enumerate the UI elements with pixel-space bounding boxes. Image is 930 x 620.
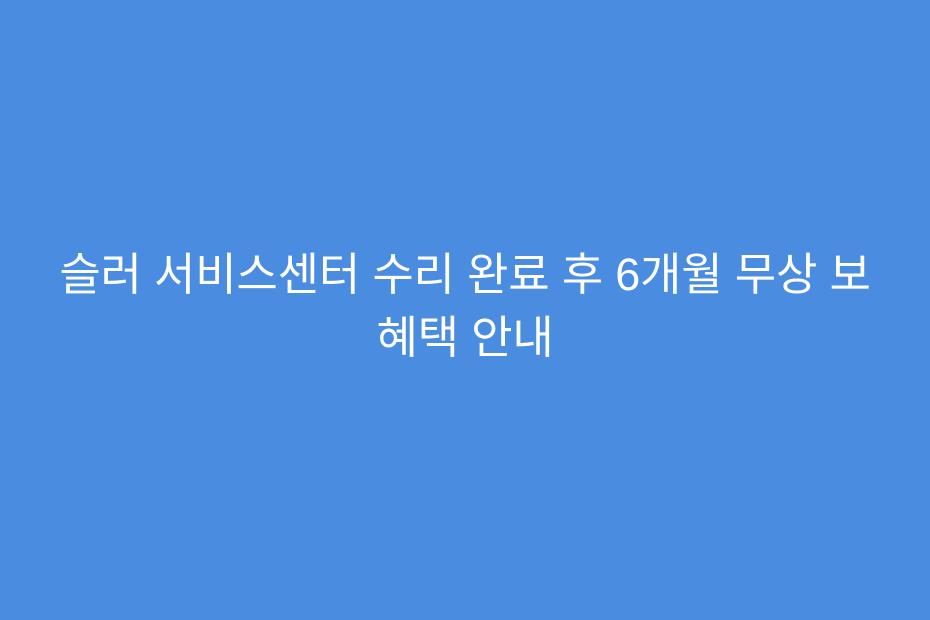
headline-block: 슬러 서비스센터 수리 완료 후 6개월 무상 보 혜택 안내 [0, 243, 930, 369]
title-card: 슬러 서비스센터 수리 완료 후 6개월 무상 보 혜택 안내 [0, 0, 930, 620]
headline-line-1: 슬러 서비스센터 수리 완료 후 6개월 무상 보 [0, 243, 930, 306]
headline-line-2: 혜택 안내 [0, 306, 930, 369]
